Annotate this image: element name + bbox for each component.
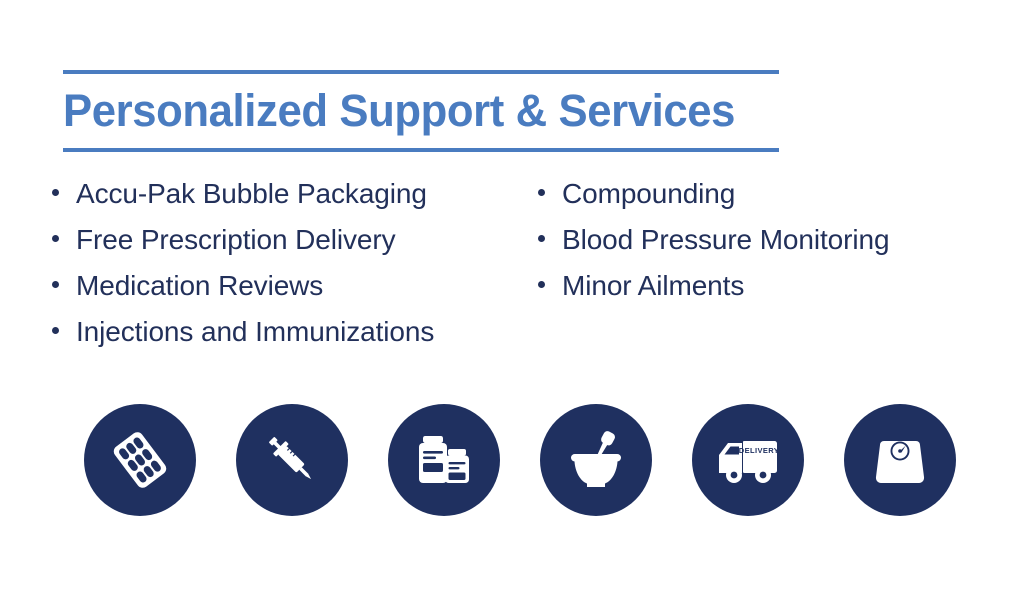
service-label: Minor Ailments: [562, 270, 744, 302]
icon-strip: DELIVERY: [84, 404, 956, 516]
weight-scale-icon: [867, 427, 933, 493]
delivery-van-icon: DELIVERY: [711, 423, 785, 497]
pill-bottles-icon: [411, 427, 477, 493]
list-item: Compounding: [538, 178, 889, 224]
bullet-icon: [538, 281, 545, 288]
service-label: Injections and Immunizations: [76, 316, 434, 348]
list-item: Medication Reviews: [52, 270, 434, 316]
icon-badge-blister-pack: [84, 404, 196, 516]
bullet-icon: [52, 189, 59, 196]
services-column-left: Accu-Pak Bubble Packaging Free Prescript…: [52, 178, 434, 362]
icon-badge-weight-scale: [844, 404, 956, 516]
list-item: Injections and Immunizations: [52, 316, 434, 362]
icon-badge-delivery-van: DELIVERY: [692, 404, 804, 516]
title-rule-bottom: [63, 148, 779, 152]
blister-pack-icon: [105, 425, 175, 495]
slide-canvas: Personalized Support & Services Accu-Pak…: [0, 0, 1025, 590]
service-label: Blood Pressure Monitoring: [562, 224, 889, 256]
service-label: Accu-Pak Bubble Packaging: [76, 178, 427, 210]
bullet-icon: [538, 189, 545, 196]
bullet-icon: [538, 235, 545, 242]
page-title: Personalized Support & Services: [63, 78, 758, 144]
bullet-icon: [52, 281, 59, 288]
list-item: Blood Pressure Monitoring: [538, 224, 889, 270]
list-item: Minor Ailments: [538, 270, 889, 316]
icon-badge-mortar-pestle: [540, 404, 652, 516]
list-item: Free Prescription Delivery: [52, 224, 434, 270]
service-label: Free Prescription Delivery: [76, 224, 396, 256]
syringe-icon: [257, 425, 327, 495]
services-column-right: Compounding Blood Pressure Monitoring Mi…: [538, 178, 889, 316]
bullet-icon: [52, 327, 59, 334]
service-label: Medication Reviews: [76, 270, 323, 302]
title-rule-top: [63, 70, 779, 74]
service-label: Compounding: [562, 178, 735, 210]
list-item: Accu-Pak Bubble Packaging: [52, 178, 434, 224]
title-block: Personalized Support & Services: [63, 70, 779, 152]
icon-badge-pill-bottles: [388, 404, 500, 516]
van-delivery-text: DELIVERY: [739, 446, 779, 455]
mortar-and-pestle-icon: [561, 425, 631, 495]
bullet-icon: [52, 235, 59, 242]
icon-badge-syringe: [236, 404, 348, 516]
